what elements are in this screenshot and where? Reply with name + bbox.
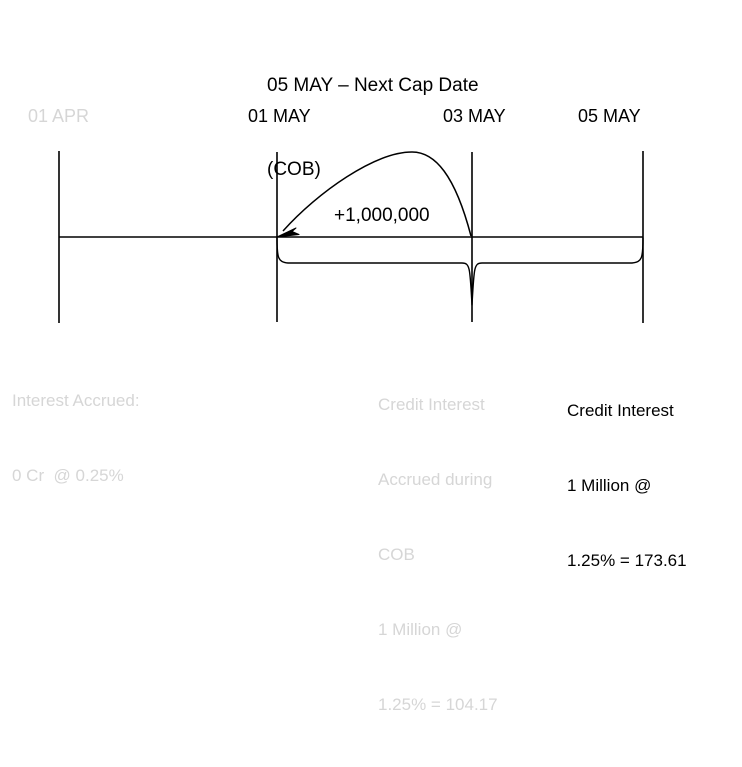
note-line: Credit Interest (378, 392, 498, 417)
note-line: Interest Accrued: (12, 388, 140, 413)
diagram-title-line-2: (COB) (267, 156, 479, 184)
date-label-01-apr: 01 APR (28, 104, 89, 129)
note-credit-interest-final: Credit Interest 1 Million @ 1.25% = 173.… (567, 348, 687, 623)
note-credit-interest-cob: Credit Interest Accrued during COB 1 Mil… (378, 342, 498, 767)
note-line: 1.25% = 173.61 (567, 548, 687, 573)
note-line: COB (378, 542, 498, 567)
date-label-01-may: 01 MAY (248, 104, 311, 129)
diagram-title-line-1: 05 MAY – Next Cap Date (267, 72, 479, 100)
transfer-amount-label: +1,000,000 (334, 203, 430, 228)
note-line: 1 Million @ (378, 617, 498, 642)
date-label-03-may: 03 MAY (443, 104, 506, 129)
note-line: Credit Interest (567, 398, 687, 423)
date-label-05-may: 05 MAY (578, 104, 641, 129)
note-line: 1 Million @ (567, 473, 687, 498)
note-line: Accrued during (378, 467, 498, 492)
diagram-canvas: 05 MAY – Next Cap Date (COB) 01 APR 01 M… (0, 0, 742, 476)
note-interest-accrued: Interest Accrued: 0 Cr @ 0.25% (12, 338, 140, 538)
note-line: 1.25% = 104.17 (378, 692, 498, 717)
accrual-brace (277, 238, 643, 305)
